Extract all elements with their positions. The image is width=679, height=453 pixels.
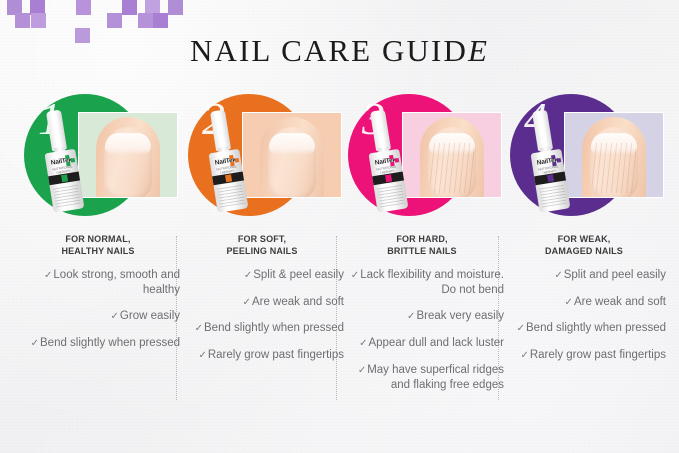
bottle-swatch	[557, 158, 562, 163]
nail-tip	[269, 133, 315, 155]
nail-type-panel-2: 2 NailTek NUTRITIONAL THERAPY	[180, 90, 344, 430]
bottle-body: NailTek NUTRITIONAL THERAPY	[208, 149, 248, 213]
check-icon: ✓	[111, 311, 119, 322]
bottle-band-chip	[547, 174, 554, 182]
bottle-swatch	[66, 162, 71, 167]
panel-heading-line-2: DAMAGED NAILS	[502, 246, 666, 258]
nail-plate	[268, 127, 316, 198]
bullet-item: ✓Rarely grow past fingertips	[502, 348, 666, 363]
bottle-swatch	[65, 155, 70, 160]
decor-square	[76, 0, 91, 15]
bottle-cap	[532, 110, 553, 152]
finger-illustration	[582, 117, 646, 198]
bottle-swatch	[229, 155, 234, 160]
panel-heading-line-2: PEELING NAILS	[180, 246, 344, 258]
nail-type-panel-3: 3 NailTek NUTRITIONAL THERAPY	[340, 90, 504, 430]
decor-square	[138, 13, 153, 28]
panel-heading-line-2: HEALTHY NAILS	[16, 246, 180, 258]
bullet-item: ✓Bend slightly when pressed	[16, 336, 180, 351]
panel-artwork: 2 NailTek NUTRITIONAL THERAPY	[180, 90, 344, 218]
decor-square	[153, 13, 168, 28]
bottle-swatch	[235, 158, 240, 163]
bullet-item: ✓Appear dull and lack luster	[340, 336, 504, 351]
bottle-fineprint	[217, 184, 245, 208]
bottle-fineprint	[539, 184, 567, 208]
page-title: NAIL CARE GUIDE	[0, 33, 679, 69]
check-icon: ✓	[31, 338, 39, 349]
bullet-item: ✓Split & peel easily	[180, 268, 344, 283]
nail-photo	[242, 112, 342, 198]
bottle-swatch	[389, 155, 394, 160]
bottle-cap	[370, 110, 391, 152]
bullet-item: ✓Bend slightly when pressed	[180, 321, 344, 336]
panel-heading: FOR WEAK, DAMAGED NAILS	[502, 234, 666, 258]
decor-square	[15, 13, 30, 28]
check-icon: ✓	[358, 365, 366, 376]
panel-heading-line-1: FOR HARD,	[340, 234, 504, 246]
panel-bullet-list: ✓Lack flexibility and moisture. Do not b…	[340, 268, 504, 393]
bullet-item: ✓May have superfical ridges and flaking …	[340, 363, 504, 393]
panel-artwork: 3 NailTek NUTRITIONAL THERAPY	[340, 90, 504, 218]
check-icon: ✓	[565, 297, 573, 308]
bullet-item: ✓Bend slightly when pressed	[502, 321, 666, 336]
panel-heading-line-1: FOR WEAK,	[502, 234, 666, 246]
check-icon: ✓	[359, 338, 367, 349]
nail-tip	[105, 133, 151, 155]
page-title-main: NAIL CARE GUID	[190, 33, 468, 68]
bottle-body: NailTek NUTRITIONAL THERAPY	[530, 149, 570, 213]
check-icon: ✓	[554, 270, 562, 281]
bottle-swatch	[552, 162, 557, 167]
check-icon: ✓	[195, 323, 203, 334]
nail-photo	[402, 112, 502, 198]
check-icon: ✓	[198, 350, 206, 361]
bottle-body: NailTek NUTRITIONAL THERAPY	[368, 149, 408, 213]
decor-square	[31, 13, 46, 28]
panel-bullet-list: ✓Look strong, smooth and healthy ✓Grow e…	[16, 268, 180, 351]
panel-bullet-list: ✓Split & peel easily ✓Are weak and soft …	[180, 268, 344, 363]
nail-plate	[104, 127, 152, 198]
nail-type-panel-1: 1 NailTek NUTRITIONAL THERAPY	[16, 90, 180, 430]
panel-bullet-list: ✓Split and peel easily ✓Are weak and sof…	[502, 268, 666, 363]
check-icon: ✓	[351, 270, 359, 281]
check-icon: ✓	[517, 323, 525, 334]
bullet-item: ✓Are weak and soft	[180, 295, 344, 310]
finger-illustration	[420, 117, 484, 198]
check-icon: ✓	[44, 270, 52, 281]
bottle-fineprint	[377, 184, 405, 208]
bottle-band-chip	[225, 174, 232, 182]
finger-illustration	[96, 117, 160, 198]
check-icon: ✓	[407, 311, 415, 322]
bottle-body: NailTek NUTRITIONAL THERAPY	[44, 149, 84, 213]
bullet-item: ✓Lack flexibility and moisture. Do not b…	[340, 268, 504, 298]
bullet-item: ✓Break very easily	[340, 309, 504, 324]
nail-type-panel-4: 4 NailTek NUTRITIONAL THERAPY	[502, 90, 666, 430]
bottle-swatch	[390, 162, 395, 167]
check-icon: ✓	[243, 297, 251, 308]
nail-photo	[564, 112, 664, 198]
bullet-item: ✓Are weak and soft	[502, 295, 666, 310]
bullet-item: ✓Split and peel easily	[502, 268, 666, 283]
panel-heading-line-2: BRITTLE NAILS	[340, 246, 504, 258]
bottle-cap	[210, 110, 231, 152]
nail-ridges	[430, 143, 474, 193]
bottle-band-chip	[385, 174, 392, 182]
panel-heading-line-1: FOR NORMAL,	[16, 234, 180, 246]
panel-artwork: 4 NailTek NUTRITIONAL THERAPY	[502, 90, 666, 218]
nail-photo	[78, 112, 178, 198]
panel-heading: FOR HARD, BRITTLE NAILS	[340, 234, 504, 258]
nail-ridges	[592, 143, 636, 193]
decor-square	[107, 13, 122, 28]
bottle-swatch	[230, 162, 235, 167]
panel-heading-line-1: FOR SOFT,	[180, 234, 344, 246]
bullet-item: ✓Rarely grow past fingertips	[180, 348, 344, 363]
panel-heading: FOR SOFT, PEELING NAILS	[180, 234, 344, 258]
bottle-fineprint	[53, 184, 81, 208]
check-icon: ✓	[244, 270, 252, 281]
finger-illustration	[260, 117, 324, 198]
panel-artwork: 1 NailTek NUTRITIONAL THERAPY	[16, 90, 180, 218]
panel-heading: FOR NORMAL, HEALTHY NAILS	[16, 234, 180, 258]
bottle-band-chip	[61, 174, 68, 182]
bullet-item: ✓Look strong, smooth and healthy	[16, 268, 180, 298]
page-title-tail: E	[468, 33, 489, 68]
bullet-item: ✓Grow easily	[16, 309, 180, 324]
nail-plate	[428, 127, 476, 198]
nail-care-guide-poster: NAIL CARE GUIDE 1 NailTek NUT	[0, 0, 679, 453]
bottle-cap	[46, 110, 67, 152]
check-icon: ✓	[520, 350, 528, 361]
bottle-swatch	[71, 158, 76, 163]
decor-square	[122, 0, 137, 15]
nail-plate	[590, 127, 638, 198]
decor-square	[168, 0, 183, 15]
bottle-swatch	[551, 155, 556, 160]
bottle-swatch	[395, 158, 400, 163]
